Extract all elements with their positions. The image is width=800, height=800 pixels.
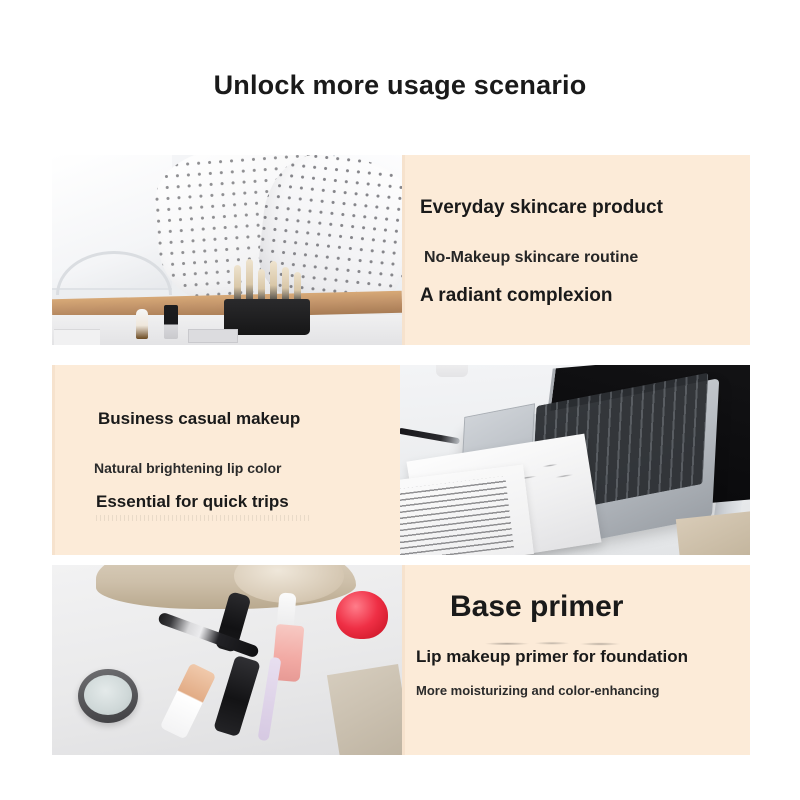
texture-artifact <box>96 515 311 521</box>
book-text-lines-shape <box>400 476 514 555</box>
brushstroke-artifact <box>480 641 630 646</box>
panel-tagline: Essential for quick trips <box>96 492 289 512</box>
table-edge-shape <box>327 664 402 755</box>
pen-shape <box>400 428 460 445</box>
panel-tagline: More moisturizing and color-enhancing <box>416 683 659 698</box>
lip-gloss-shape <box>160 663 217 740</box>
panel-image-everyday-skincare <box>52 155 402 345</box>
panel-subline: Lip makeup primer for foundation <box>416 647 688 667</box>
feature-panel-business-casual-makeup: Business casual makeup Natural brighteni… <box>52 365 750 555</box>
feature-panel-everyday-skincare: Everyday skincare product No-Makeup skin… <box>52 155 750 345</box>
paper-sheet-shape <box>54 329 100 345</box>
panel-image-base-primer <box>52 565 402 755</box>
feature-panel-base-primer: Base primer Lip makeup primer for founda… <box>52 565 750 755</box>
powder-compact-inner-shape <box>84 675 132 715</box>
lipstick-tube-shape <box>164 305 178 339</box>
red-compact-lid-shape <box>336 591 388 639</box>
panel-headline: Base primer <box>450 590 623 624</box>
promo-page: Unlock more usage scenario <box>0 0 800 800</box>
panel-image-business-casual-makeup <box>400 365 750 555</box>
panel-subline: Natural brightening lip color <box>94 460 281 476</box>
lip-wand-shape <box>257 657 281 742</box>
panel-headline: Everyday skincare product <box>420 197 663 219</box>
cup-shape <box>436 365 468 377</box>
serum-bottle-shape <box>136 309 148 339</box>
black-cosmetic-tube-shape <box>213 655 261 737</box>
panel-copy-base-primer: Base primer Lip makeup primer for founda… <box>402 565 750 755</box>
vanity-tray-shape <box>188 329 238 343</box>
page-title: Unlock more usage scenario <box>0 70 800 101</box>
panel-copy-business-casual-makeup: Business casual makeup Natural brighteni… <box>52 365 400 555</box>
panel-headline: Business casual makeup <box>98 409 300 429</box>
floor-corner-shape <box>676 511 750 555</box>
panel-copy-everyday-skincare: Everyday skincare product No-Makeup skin… <box>402 155 750 345</box>
panel-tagline: A radiant complexion <box>420 285 613 307</box>
panel-subline: No-Makeup skincare routine <box>424 249 638 267</box>
